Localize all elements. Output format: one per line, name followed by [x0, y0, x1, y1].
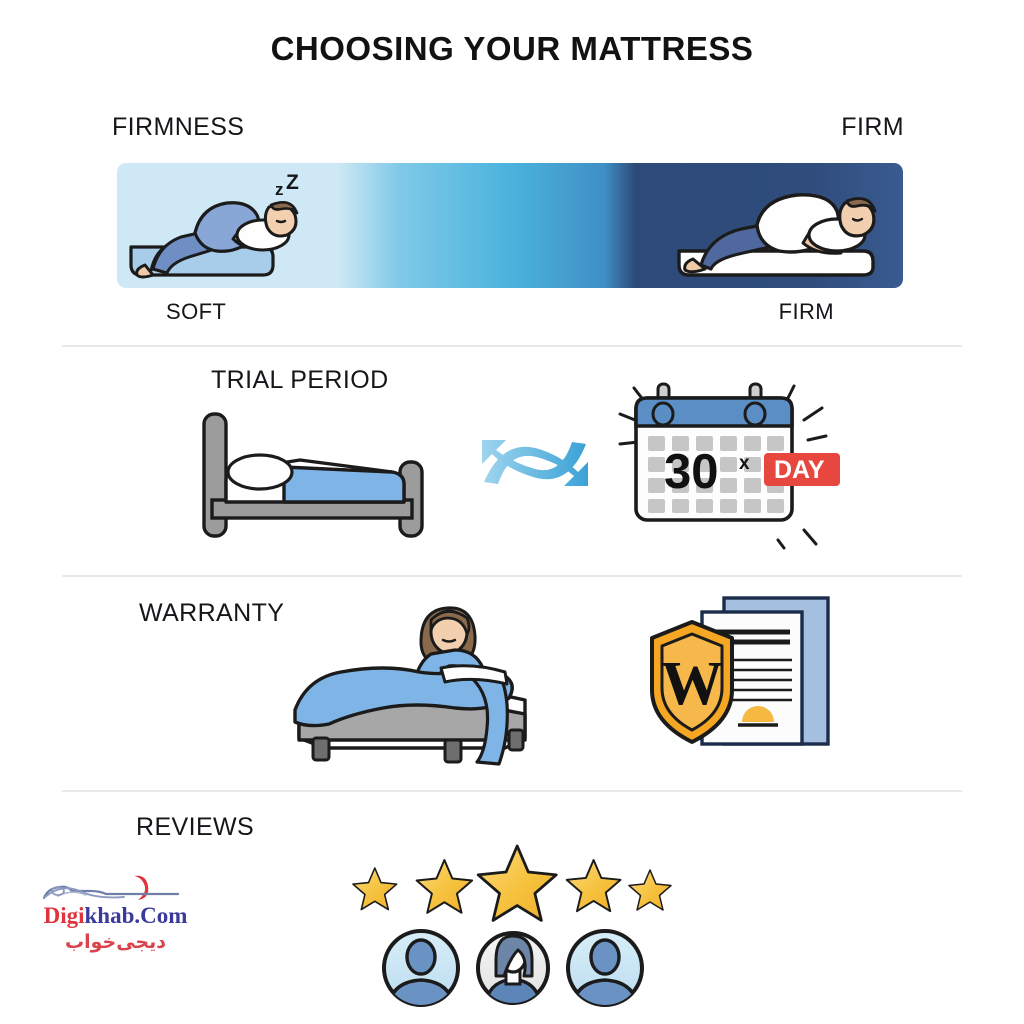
- avatar-3: [568, 931, 642, 1008]
- calendar-multiplier: x: [739, 453, 750, 474]
- firmness-scale-left-label: SOFT: [166, 299, 226, 325]
- star-3: [478, 846, 556, 920]
- page-title: CHOOSING YOUR MATTRESS: [0, 30, 1024, 68]
- crescent-moon-and-sleeper-icon: [28, 872, 198, 906]
- reviewer-avatar-group: [382, 928, 644, 1008]
- divider-2: [62, 575, 962, 577]
- avatar-2: [478, 933, 548, 1008]
- star-1: [353, 868, 397, 910]
- reviews-heading: REVIEWS: [136, 813, 254, 842]
- trial-period-heading: TRIAL PERIOD: [211, 366, 389, 395]
- brand-part2: khab.Com: [84, 903, 187, 928]
- bed-with-blue-blanket-icon: [192, 410, 442, 545]
- brand-logo[interactable]: Digikhab.Com دیجی‌خواب: [28, 872, 203, 953]
- star-4: [567, 860, 621, 911]
- star-5: [629, 870, 671, 910]
- two-curved-exchange-arrows-icon: [456, 424, 614, 500]
- brand-wordmark: Digikhab.Com: [28, 904, 203, 927]
- avatar-1: [384, 931, 458, 1008]
- star-2: [417, 860, 472, 913]
- firmness-heading-right: FIRM: [841, 113, 904, 142]
- woman-making-bed-icon: [255, 588, 555, 780]
- firmness-gradient-bar: z Z: [117, 163, 903, 288]
- calendar-number: 30: [664, 445, 719, 499]
- brand-persian-name: دیجی‌خواب: [28, 931, 203, 953]
- shield-letter: W: [661, 650, 723, 718]
- infographic-page: CHOOSING YOUR MATTRESS FIRMNESS FIRM z: [0, 0, 1024, 1024]
- firmness-heading: FIRMNESS: [112, 113, 244, 142]
- warranty-shield-certificate-group: W: [646, 580, 846, 780]
- calendar-icon: 30 x DAY: [608, 370, 854, 550]
- firmness-scale-right-label: FIRM: [779, 299, 834, 325]
- star-rating-group: [340, 838, 690, 928]
- divider-1: [62, 345, 962, 347]
- sleep-z-large: Z: [286, 171, 299, 194]
- sleep-z-small: z: [275, 180, 284, 199]
- brand-part1: Digi: [44, 903, 85, 928]
- day-badge-label: DAY: [774, 456, 825, 484]
- person-sleeping-firm-mattress-icon: [657, 173, 887, 283]
- person-sleeping-soft-mattress-icon: z Z: [123, 171, 303, 286]
- divider-3: [62, 790, 962, 792]
